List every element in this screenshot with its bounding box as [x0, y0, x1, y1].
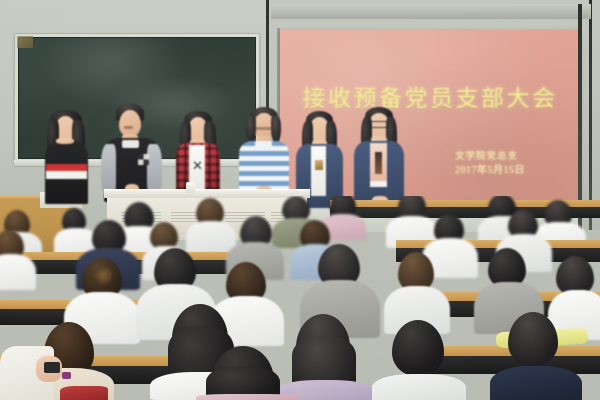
presenter-1-red-stripe: [46, 164, 87, 171]
presenter-4-hair-left: [246, 116, 256, 142]
presenter-2-collar: [122, 140, 139, 148]
presenter-6: [352, 108, 406, 208]
photograph: 接收预备党员支部大会 文学院党总支 2017年5月15日: [0, 0, 600, 400]
red-garment-foreground: [60, 386, 108, 400]
presenter-3-tee-print: ✕: [192, 160, 203, 171]
blackboard-corner-bracket: [17, 36, 33, 48]
presenter-2-open-mouth: [124, 126, 133, 129]
presenter-1-neck: [56, 138, 74, 144]
presenter-5-tee-graphic: [315, 160, 323, 170]
presenter-2-right-sleeve: [147, 144, 162, 194]
slide-date-text: 2017年5月15日: [455, 161, 570, 176]
slide-title-text: 接收预备党员支部大会: [284, 79, 576, 113]
presenter-2-head: [119, 110, 141, 137]
water-cup-on-podium: [186, 182, 195, 193]
presenter-1-white-stripe: [46, 171, 87, 179]
presenter-4-hair-right: [271, 116, 281, 143]
presenter-4: [236, 108, 292, 198]
presenter-5-white-tee: [311, 146, 326, 196]
slide-organization-text: 文学院党总支: [455, 148, 565, 162]
presenter-6-waistband: [370, 181, 387, 187]
presenter-4-smile: [256, 127, 272, 130]
presenter-4-collar: [255, 141, 272, 150]
hair-bun: [94, 266, 112, 284]
foreground-shoulder: [196, 394, 300, 400]
projector-screen-housing: [271, 4, 591, 19]
audience-area: [0, 196, 600, 400]
presenter-2-jacket-patch: [138, 154, 149, 165]
small-purple-object: [62, 372, 71, 379]
presenter-3: ✕: [172, 112, 224, 198]
mobile-phone[interactable]: [44, 362, 60, 373]
presenter-2-left-sleeve: [101, 144, 116, 194]
presenter-6-tee-graphic: [375, 152, 382, 174]
presenter-2: [98, 104, 164, 202]
presenter-1: [40, 112, 92, 204]
